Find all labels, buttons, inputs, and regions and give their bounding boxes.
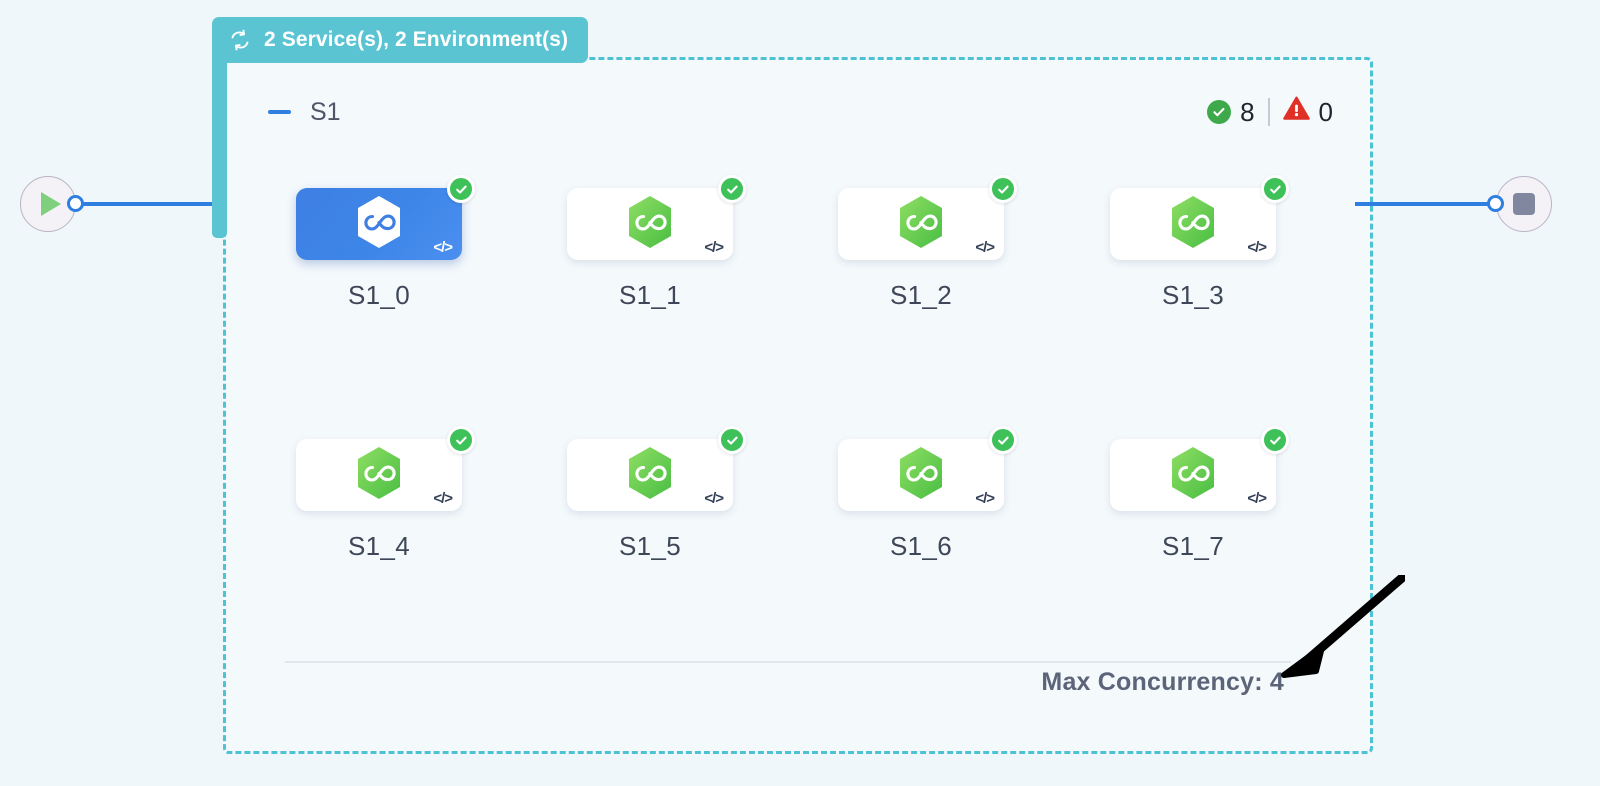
code-brackets-icon[interactable]: </> [1247,239,1266,256]
edge-group-to-end [1355,202,1491,206]
loop-refresh-icon [228,28,252,52]
group-left-spine [212,42,227,238]
start-node-handle[interactable] [67,195,84,212]
collapse-toggle-button[interactable] [268,110,294,114]
service-node-card[interactable]: </> [838,439,1004,511]
service-node-label: S1_4 [296,531,462,562]
max-concurrency-label: Max Concurrency: 4 [1041,668,1284,697]
minus-icon [268,110,291,114]
service-node-s1_1[interactable]: </>S1_1 [567,188,733,311]
hexagon-infinity-icon [353,445,405,506]
edge-start-to-group [80,202,222,206]
hexagon-infinity-icon [624,445,676,506]
service-node-card[interactable]: </> [567,188,733,260]
node-status-check-icon [989,175,1017,203]
error-count-group: 0 [1283,96,1333,128]
workflow-canvas: 2 Service(s), 2 Environment(s) S1 8 [0,0,1600,786]
node-status-check-icon [447,175,475,203]
status-divider [1268,98,1270,126]
group-header-label: 2 Service(s), 2 Environment(s) [264,28,568,52]
success-count-value: 8 [1240,97,1254,128]
service-node-card[interactable]: </> [1110,188,1276,260]
code-brackets-icon[interactable]: </> [704,490,723,507]
hexagon-infinity-icon [895,194,947,255]
hexagon-infinity-icon [1167,445,1219,506]
stop-icon [1513,193,1535,215]
service-node-label: S1_2 [838,280,1004,311]
error-count-value: 0 [1319,97,1333,128]
hexagon-infinity-icon [1167,194,1219,255]
service-node-s1_5[interactable]: </>S1_5 [567,439,733,562]
service-group-container[interactable] [223,57,1373,754]
end-node-handle[interactable] [1487,195,1504,212]
group-header-tab[interactable]: 2 Service(s), 2 Environment(s) [212,17,588,63]
group-title-row: S1 8 0 [268,92,1333,132]
service-node-s1_2[interactable]: </>S1_2 [838,188,1004,311]
service-node-label: S1_6 [838,531,1004,562]
code-brackets-icon[interactable]: </> [1247,490,1266,507]
end-node[interactable] [1496,176,1552,232]
service-node-label: S1_7 [1110,531,1276,562]
service-node-card[interactable]: </> [838,188,1004,260]
service-node-label: S1_1 [567,280,733,311]
service-node-label: S1_3 [1110,280,1276,311]
service-node-s1_0[interactable]: </>S1_0 [296,188,462,311]
node-status-check-icon [989,426,1017,454]
code-brackets-icon[interactable]: </> [704,239,723,256]
service-node-label: S1_0 [296,280,462,311]
service-node-card[interactable]: </> [296,439,462,511]
service-node-label: S1_5 [567,531,733,562]
service-node-s1_6[interactable]: </>S1_6 [838,439,1004,562]
code-brackets-icon[interactable]: </> [975,490,994,507]
success-count-group: 8 [1207,97,1254,128]
code-brackets-icon[interactable]: </> [433,239,452,256]
service-node-card[interactable]: </> [567,439,733,511]
node-status-check-icon [718,426,746,454]
service-node-s1_4[interactable]: </>S1_4 [296,439,462,562]
service-node-s1_3[interactable]: </>S1_3 [1110,188,1276,311]
warning-triangle-icon [1283,96,1310,128]
code-brackets-icon[interactable]: </> [433,490,452,507]
node-status-check-icon [1261,175,1289,203]
code-brackets-icon[interactable]: </> [975,239,994,256]
service-node-card[interactable]: </> [1110,439,1276,511]
node-status-check-icon [447,426,475,454]
hexagon-infinity-icon [353,194,405,255]
check-circle-icon [1207,100,1231,124]
group-status-counts: 8 0 [1207,96,1333,128]
service-node-s1_7[interactable]: </>S1_7 [1110,439,1276,562]
service-node-card[interactable]: </> [296,188,462,260]
group-name-label: S1 [310,98,341,127]
play-icon [41,192,61,216]
node-status-check-icon [1261,426,1289,454]
group-footer-divider [285,661,1291,663]
hexagon-infinity-icon [895,445,947,506]
hexagon-infinity-icon [624,194,676,255]
node-status-check-icon [718,175,746,203]
